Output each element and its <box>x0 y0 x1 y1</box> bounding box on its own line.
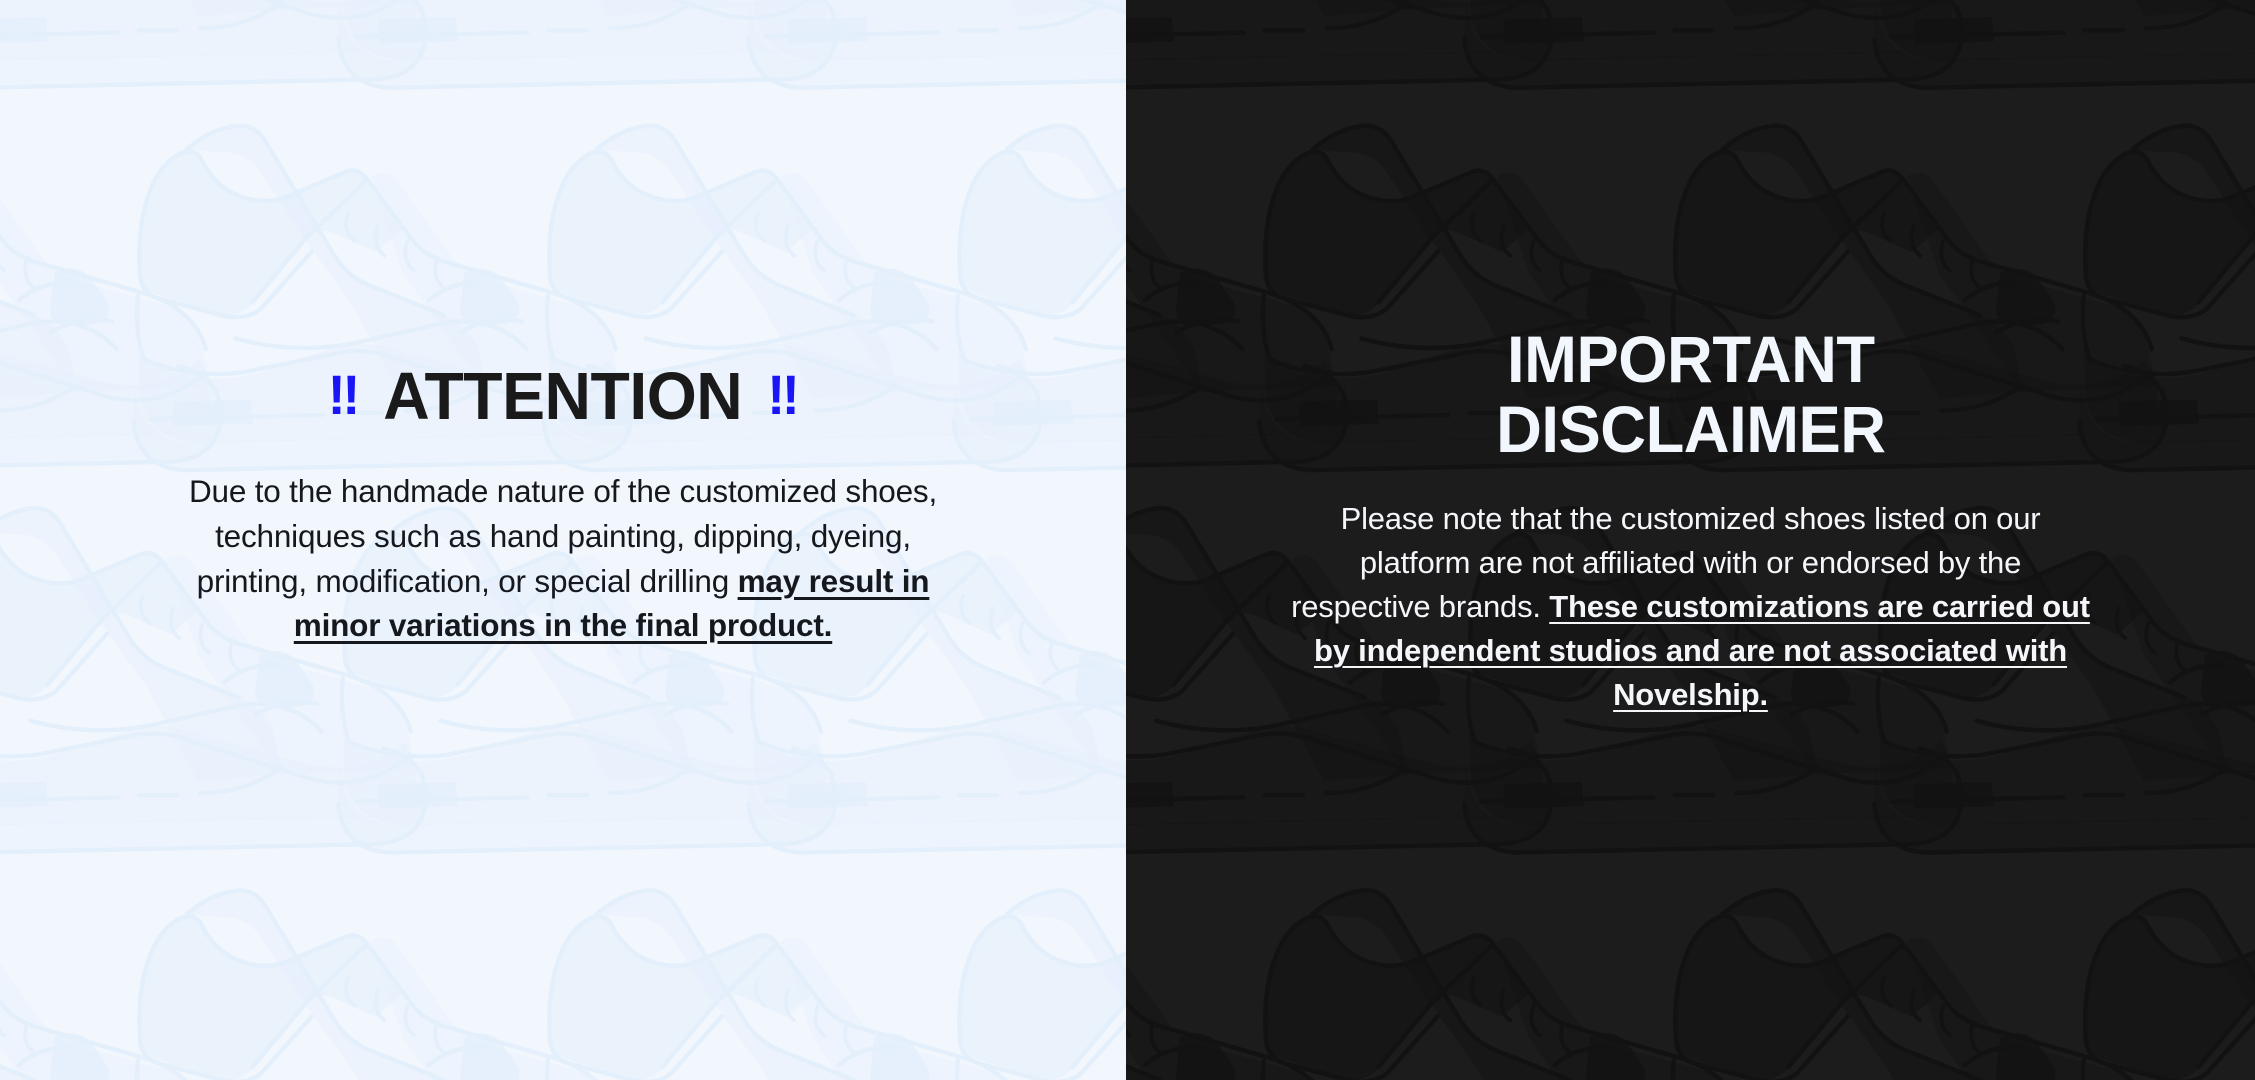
disclaimer-heading-line1: IMPORTANT <box>1496 325 1885 395</box>
disclaimer-heading-line2: DISCLAIMER <box>1496 395 1885 465</box>
disclaimer-body: Please note that the customized shoes li… <box>1291 497 2091 717</box>
double-exclamation-left-icon: ‼ <box>328 367 359 423</box>
attention-heading: ‼ ATTENTION ‼ <box>328 363 798 431</box>
attention-panel: ‼ ATTENTION ‼ Due to the handmade nature… <box>0 0 1126 1080</box>
split-disclaimer-banner: ‼ ATTENTION ‼ Due to the handmade nature… <box>0 0 2255 1080</box>
attention-body: Due to the handmade nature of the custom… <box>168 469 958 648</box>
disclaimer-heading: IMPORTANT DISCLAIMER <box>1496 325 1885 465</box>
disclaimer-panel: IMPORTANT DISCLAIMER Please note that th… <box>1126 0 2255 1080</box>
disclaimer-content: IMPORTANT DISCLAIMER Please note that th… <box>1126 0 2255 717</box>
attention-heading-text: ATTENTION <box>384 363 743 431</box>
attention-content: ‼ ATTENTION ‼ Due to the handmade nature… <box>0 0 1126 648</box>
double-exclamation-right-icon: ‼ <box>767 367 798 423</box>
